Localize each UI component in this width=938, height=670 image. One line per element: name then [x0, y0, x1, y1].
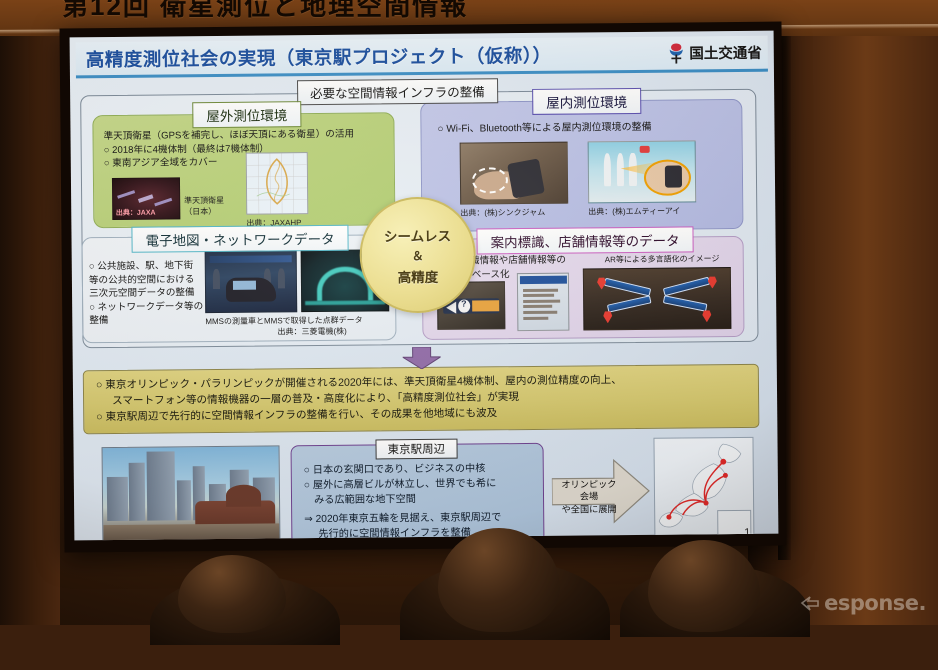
- panel-title-indoor: 屋内測位環境: [532, 88, 641, 115]
- panel-title-outdoor: 屋外測位環境: [192, 101, 301, 128]
- badge-line-2: 高精度: [398, 265, 439, 285]
- map-bullet-1: 等の公共的空間における: [89, 273, 203, 288]
- ar-multilingual-signage-photo: [583, 267, 732, 330]
- indoor-navigation-photo: [588, 140, 697, 203]
- indoor-photo-source-left: 出典：(株)シンクジャム: [460, 207, 545, 219]
- map-bullet-3: ○ ネットワークデータ等の: [89, 300, 203, 315]
- response-watermark: esponse.: [799, 591, 926, 615]
- smartphone-cafe-photo: [460, 142, 569, 205]
- mlit-emblem-icon: [666, 42, 685, 64]
- mms-source: 出典：三菱電機(株): [277, 326, 346, 338]
- badge-line-1: シームレス: [384, 224, 451, 245]
- indoor-bullet-0: ○ Wi-Fi、Bluetooth等による屋内測位環境の整備: [437, 121, 651, 137]
- projection-screen-frame: 高精度測位社会の実現（東京駅プロジェクト（仮称）） 国土交通省 必要な空間情報イ…: [60, 22, 787, 553]
- information-board-photo: [517, 273, 570, 331]
- mms-survey-vehicle-photo: [205, 250, 298, 313]
- tokyo-bullet-1: ○ 屋外に高層ビルが林立し、世界でも希に: [304, 477, 501, 494]
- qzss-orbit-figure: [246, 152, 309, 215]
- map-bullet-0: ○ 公共施設、駅、地下街: [89, 259, 203, 274]
- tokyo-bullets: ○ 日本の玄関口であり、ビジネスの中核 ○ 屋外に高層ビルが林立し、世界でも希に…: [304, 462, 502, 540]
- ministry-logo: 国土交通省: [666, 41, 762, 64]
- summary-box: ○ 東京オリンピック・パラリンピックが開催される2020年には、準天頂衛星4機体…: [83, 364, 760, 434]
- ministry-name: 国土交通省: [689, 42, 762, 64]
- figure-eight-orbit-icon: [247, 153, 308, 214]
- tokyo-station-cityscape-photo: [102, 445, 281, 540]
- panel-title-signage: 案内標識、店舗情報等のデータ: [476, 226, 693, 254]
- badge-ampersand: ＆: [412, 246, 424, 263]
- ar-caption: AR等による多言語化のイメージ: [605, 253, 720, 265]
- expand-arrow-label: オリンピック会場や全国に展開: [558, 478, 620, 516]
- japan-deployment-map: 1: [653, 437, 754, 541]
- watermark-text: esponse.: [824, 591, 926, 615]
- tokyo-station-area-title: 東京駅周辺: [375, 439, 457, 460]
- wall-left: [0, 0, 60, 625]
- down-arrow-icon: [403, 347, 441, 369]
- event-banner-title: 第12回 衛星測位と地理空間情報: [62, 0, 468, 23]
- slide-page-number: 1: [744, 527, 750, 539]
- seamless-high-accuracy-badge: シームレス ＆ 高精度: [359, 196, 476, 313]
- panel-indoor-positioning: ○ Wi-Fi、Bluetooth等による屋内測位環境の整備 出典：(株)シンク…: [420, 99, 743, 232]
- panel-outdoor-positioning: 準天頂衛星（GPSを補完し、ほぼ天頂にある衛星）の活用 ○ 2018年に4機体制…: [92, 112, 395, 228]
- satellite-caption: 準天頂衛星: [184, 195, 224, 206]
- satellite-photo-source: 出典：JAXA: [116, 207, 156, 217]
- map-bullets: ○ 公共施設、駅、地下街 等の公共的空間における 三次元空間データの整備 ○ ネ…: [89, 259, 204, 328]
- tokyo-bullet-3: ⇒ 2020年東京五輪を見据え、東京駅周辺で: [304, 512, 501, 529]
- satellite-photo: 出典：JAXA: [112, 177, 180, 220]
- tokyo-bullet-2: みる広範囲な地下空間: [304, 492, 501, 509]
- indoor-photo-source-right: 出典：(株)エムティーアイ: [588, 206, 680, 218]
- infrastructure-header-label: 必要な空間情報インフラの整備: [297, 78, 498, 105]
- slide-title-bar: 高精度測位社会の実現（東京駅プロジェクト（仮称）） 国土交通省: [76, 36, 768, 79]
- map-bullet-2: 三次元空間データの整備: [89, 286, 203, 301]
- presentation-slide: 高精度測位社会の実現（東京駅プロジェクト（仮称）） 国土交通省 必要な空間情報イ…: [70, 31, 779, 541]
- bottom-section: ○ 日本の玄関口であり、ビジネスの中核 ○ 屋外に高層ビルが林立し、世界でも希に…: [83, 435, 760, 541]
- tokyo-bullet-0: ○ 日本の玄関口であり、ビジネスの中核: [304, 462, 501, 479]
- outdoor-bullet-0: 準天頂衛星（GPSを補完し、ほぼ天頂にある衛星）の活用: [103, 128, 354, 144]
- map-bullet-4: 整備: [89, 314, 203, 329]
- satellite-caption-2: （日本）: [184, 206, 216, 217]
- slide-title: 高精度測位社会の実現（東京駅プロジェクト（仮称））: [86, 41, 552, 71]
- indoor-bullets: ○ Wi-Fi、Bluetooth等による屋内測位環境の整備: [437, 121, 651, 137]
- response-logo-icon: [799, 592, 821, 614]
- panel-title-digital-map: 電子地図・ネットワークデータ: [131, 225, 348, 253]
- outdoor-bullet-2: ○ 東南アジア全域をカバー: [104, 155, 355, 171]
- outdoor-bullets: 準天頂衛星（GPSを補完し、ほぼ天頂にある衛星）の活用 ○ 2018年に4機体制…: [103, 128, 354, 171]
- map-inset-box: [717, 510, 751, 538]
